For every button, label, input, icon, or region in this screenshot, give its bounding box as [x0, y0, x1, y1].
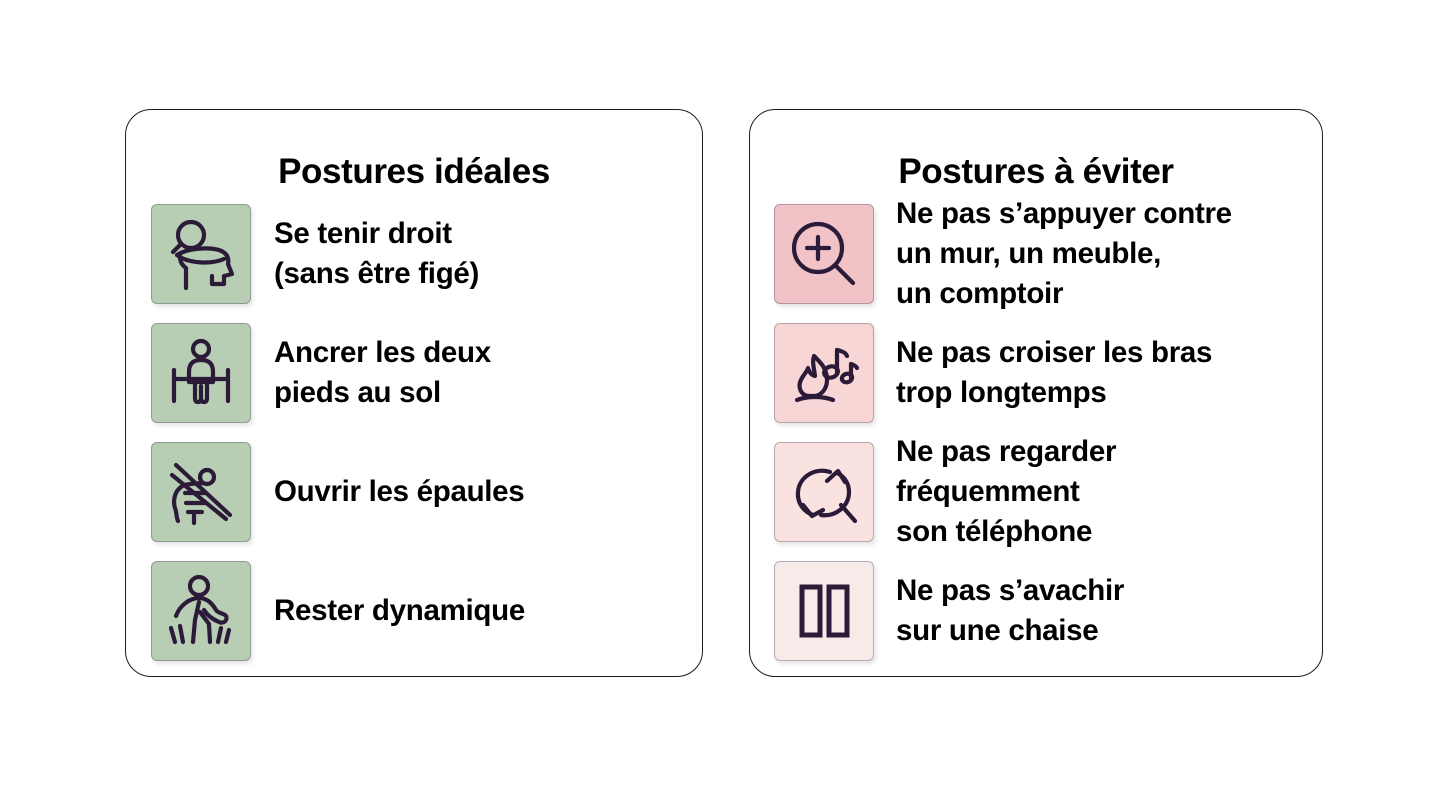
zoom-in-icon	[774, 204, 874, 304]
person-at-barrier-icon	[151, 323, 251, 423]
card-title-avoid: Postures à éviter	[750, 152, 1322, 192]
list-item: Ouvrir les épaules	[126, 432, 702, 551]
list-item-label: Ouvrir les épaules	[274, 472, 524, 512]
list-item: Ancrer les deux pieds au sol	[126, 313, 702, 432]
list-item: Ne pas croiser les bras trop longtemps	[750, 313, 1322, 432]
list-item-label: Ancrer les deux pieds au sol	[274, 333, 491, 413]
card-postures-a-eviter: Postures à éviter Ne pas s’appuyer contr…	[749, 109, 1323, 677]
list-item: Ne pas s’avachir sur une chaise	[750, 551, 1322, 670]
list-item: Ne pas regarder fréquemment son téléphon…	[750, 432, 1322, 551]
list-item-label: Ne pas regarder fréquemment son téléphon…	[896, 432, 1116, 552]
list-item-label: Rester dynamique	[274, 591, 525, 631]
hand-chopsticks-icon	[151, 442, 251, 542]
list-avoid: Ne pas s’appuyer contre un mur, un meubl…	[750, 194, 1322, 670]
list-item: Se tenir droit (sans être figé)	[126, 194, 702, 313]
list-item-label: Ne pas s’appuyer contre un mur, un meubl…	[896, 194, 1232, 314]
missing-glyph-boxes-icon	[774, 561, 874, 661]
person-walking-icon	[151, 561, 251, 661]
infographic-canvas: Postures idéales Se tenir droit (sans êt…	[0, 0, 1448, 794]
list-item: Rester dynamique	[126, 551, 702, 670]
list-item: Ne pas s’appuyer contre un mur, un meubl…	[750, 194, 1322, 313]
card-title-ideal: Postures idéales	[126, 152, 702, 192]
card-postures-ideales: Postures idéales Se tenir droit (sans êt…	[125, 109, 703, 677]
list-item-label: Ne pas s’avachir sur une chaise	[896, 571, 1124, 651]
refresh-search-icon	[774, 442, 874, 542]
campfire-music-icon	[774, 323, 874, 423]
list-ideal: Se tenir droit (sans être figé) Ancrer l…	[126, 194, 702, 670]
list-item-label: Se tenir droit (sans être figé)	[274, 214, 479, 294]
list-item-label: Ne pas croiser les bras trop longtemps	[896, 333, 1212, 413]
person-bust-icon	[151, 204, 251, 304]
